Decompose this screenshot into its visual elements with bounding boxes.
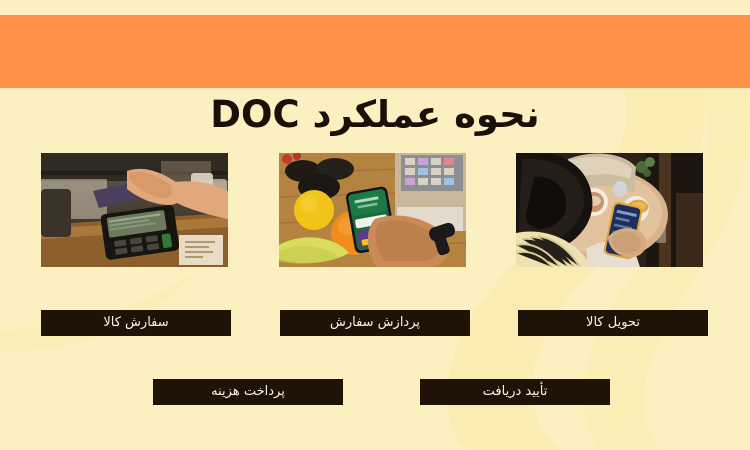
step-button-confirm[interactable]: تأیید دریافت [420,379,610,405]
step-button-order[interactable]: سفارش کالا [41,310,231,336]
step-button-payment[interactable]: پرداخت هزینه [153,379,343,405]
site-header [0,15,750,88]
page-root: nopShop نحوه عملکرد COD [0,0,750,450]
top-strip [0,0,750,15]
step-button-deliver[interactable]: تحویل کالا [518,310,708,336]
step-button-process[interactable]: پردازش سفارش [280,310,470,336]
